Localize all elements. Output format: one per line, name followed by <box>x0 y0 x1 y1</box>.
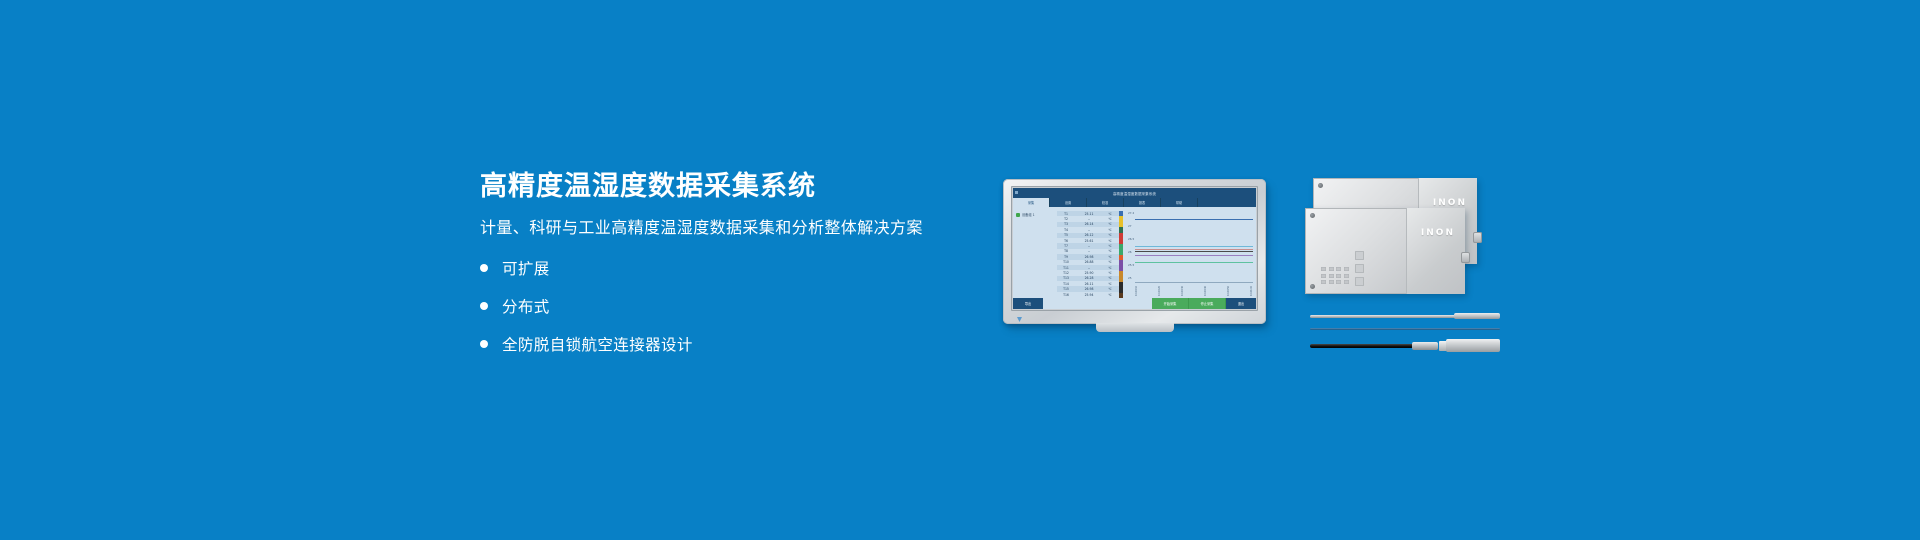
table-row[interactable]: T1426.11℃ <box>1057 281 1119 286</box>
cell-value: 26.14 <box>1075 222 1103 226</box>
cell-channel: T13 <box>1057 276 1075 280</box>
cell-channel: T9 <box>1057 255 1075 259</box>
chart-series-line <box>1135 262 1253 263</box>
screw-icon <box>1310 284 1315 289</box>
probe-aviation-connector <box>1310 339 1500 352</box>
cell-unit: ℃ <box>1103 249 1117 253</box>
probe-connector-head <box>1446 339 1500 352</box>
exit-button[interactable]: 退出 <box>1226 298 1256 309</box>
cell-unit: ℃ <box>1103 222 1117 226</box>
cell-value: 26.98 <box>1075 255 1103 259</box>
chart-y-tick: 27.2 <box>1128 211 1134 215</box>
cell-value: 26.88 <box>1075 260 1103 264</box>
cell-value: 25.94 <box>1075 293 1103 297</box>
monitor-inner-frame: 高精度温湿度数据采集系统 采集 设置 校准 报表 帮助 设备组 <box>1011 186 1258 311</box>
probe-cable <box>1310 328 1500 330</box>
export-button[interactable]: 导出 <box>1013 298 1043 309</box>
table-row[interactable]: T11--℃ <box>1057 265 1119 270</box>
chart-series-line <box>1135 246 1253 247</box>
cell-value: 26.12 <box>1075 233 1103 237</box>
cell-unit: ℃ <box>1103 239 1117 243</box>
cell-unit: ℃ <box>1103 244 1117 248</box>
cell-unit: ℃ <box>1103 276 1117 280</box>
cell-channel: T3 <box>1057 222 1075 226</box>
probe-blue-cable <box>1310 327 1500 331</box>
feature-label: 分布式 <box>502 295 550 317</box>
chart-series-line <box>1135 251 1253 252</box>
cell-channel: T8 <box>1057 249 1075 253</box>
acquisition-modules: INON INON <box>1305 178 1495 298</box>
cell-unit: ℃ <box>1103 271 1117 275</box>
module-front: INON <box>1305 208 1465 294</box>
chart-y-tick: 26 <box>1128 250 1132 254</box>
device-tree-panel: 设备组 1 <box>1013 207 1057 298</box>
tab-settings[interactable]: 设置 <box>1050 198 1087 207</box>
window-title: 高精度温湿度数据采集系统 <box>1113 191 1156 196</box>
tab-calibration[interactable]: 校准 <box>1087 198 1124 207</box>
cell-unit: ℃ <box>1103 228 1117 232</box>
tab-acquire[interactable]: 采集 <box>1013 198 1050 207</box>
cell-unit: ℃ <box>1103 266 1117 270</box>
cell-channel: T11 <box>1057 266 1075 270</box>
cell-channel: T10 <box>1057 260 1075 264</box>
screw-icon <box>1310 213 1315 218</box>
chart-y-tick: 25 <box>1128 276 1132 280</box>
table-row[interactable]: T625.61℃ <box>1057 238 1119 243</box>
chart-x-tick: 10:20:50 <box>1227 286 1230 296</box>
cell-value: -- <box>1075 228 1103 232</box>
chart-y-tick: 25.5 <box>1128 263 1134 267</box>
feature-list: 可扩展 分布式 全防脱自锁航空连接器设计 <box>480 257 950 355</box>
monitor-stand <box>1096 323 1174 332</box>
chart-series-line <box>1135 255 1253 256</box>
feature-label: 可扩展 <box>502 257 550 279</box>
table-row[interactable]: T4--℃ <box>1057 227 1119 232</box>
tab-help[interactable]: 帮助 <box>1161 198 1198 207</box>
cell-value: -- <box>1075 266 1103 270</box>
chart-plot-area <box>1135 210 1253 282</box>
cell-channel: T1 <box>1057 212 1075 216</box>
cell-value: 25.90 <box>1075 271 1103 275</box>
footer-spacer <box>1043 298 1152 309</box>
chart-x-tick: 10:20:20 <box>1158 286 1161 296</box>
probe-cable <box>1310 344 1414 348</box>
screen-body: 设备组 1 T125.11℃T2--℃T326.14℃T4--℃T526.12℃… <box>1013 207 1256 298</box>
table-row[interactable]: T326.14℃ <box>1057 222 1119 227</box>
cell-unit: ℃ <box>1103 282 1117 286</box>
probe-stainless <box>1310 313 1500 319</box>
panel-pc-monitor: 高精度温湿度数据采集系统 采集 设置 校准 报表 帮助 设备组 <box>1003 179 1266 324</box>
tab-bar: 采集 设置 校准 报表 帮助 <box>1013 198 1256 207</box>
cell-value: 25.11 <box>1075 212 1103 216</box>
table-row[interactable]: T1326.28℃ <box>1057 276 1119 281</box>
table-row[interactable]: T926.98℃ <box>1057 254 1119 259</box>
start-acquisition-button[interactable]: 开始采集 <box>1152 298 1189 309</box>
cell-value: 26.28 <box>1075 276 1103 280</box>
list-item: 全防脱自锁航空连接器设计 <box>480 333 950 355</box>
module-brand-label: INON <box>1421 228 1455 238</box>
table-row[interactable]: T8--℃ <box>1057 249 1119 254</box>
cell-channel: T4 <box>1057 228 1075 232</box>
bullet-icon <box>480 340 488 348</box>
cell-channel: T15 <box>1057 287 1075 291</box>
connector-group <box>1355 251 1364 286</box>
chart-series-line <box>1135 249 1253 250</box>
chart-y-tick: 27 <box>1128 224 1132 228</box>
device-tree-node[interactable]: 设备组 1 <box>1016 212 1054 217</box>
app-icon <box>1015 191 1018 194</box>
module-brand-label: INON <box>1433 198 1467 208</box>
bullet-icon <box>480 264 488 272</box>
cell-channel: T16 <box>1057 293 1075 297</box>
screen-footer: 导出 开始采集 停止采集 退出 <box>1013 298 1256 309</box>
cell-unit: ℃ <box>1103 260 1117 264</box>
chart-x-ticks: 10:20:1010:20:2010:20:3010:20:4010:20:50… <box>1135 286 1253 296</box>
probe-shaft <box>1310 315 1458 318</box>
chart-x-tick: 10:20:40 <box>1204 286 1207 296</box>
trend-chart: 10:20:1010:20:2010:20:3010:20:4010:20:50… <box>1123 207 1256 298</box>
sensor-probes <box>1310 313 1500 365</box>
list-item: 分布式 <box>480 295 950 317</box>
connector-port <box>1461 252 1470 263</box>
cell-value: 26.98 <box>1075 287 1103 291</box>
cell-unit: ℃ <box>1103 293 1117 297</box>
table-row[interactable]: T1026.88℃ <box>1057 260 1119 265</box>
cell-channel: T7 <box>1057 244 1075 248</box>
table-row[interactable]: T125.11℃ <box>1057 211 1119 216</box>
chart-x-axis <box>1135 282 1253 283</box>
chart-series-line <box>1135 219 1253 220</box>
feature-label: 全防脱自锁航空连接器设计 <box>502 333 693 355</box>
table-row[interactable]: T1625.94℃ <box>1057 292 1119 297</box>
module-right-face <box>1406 208 1465 294</box>
cell-channel: T14 <box>1057 282 1075 286</box>
channel-table: T125.11℃T2--℃T326.14℃T4--℃T526.12℃T625.6… <box>1057 207 1119 298</box>
cell-channel: T6 <box>1057 239 1075 243</box>
status-icon <box>1016 213 1020 217</box>
cell-value: -- <box>1075 217 1103 221</box>
chart-x-tick: 10:21:00 <box>1250 286 1253 296</box>
cell-unit: ℃ <box>1103 233 1117 237</box>
cell-value: -- <box>1075 244 1103 248</box>
table-row[interactable]: T2--℃ <box>1057 216 1119 221</box>
tab-report[interactable]: 报表 <box>1124 198 1161 207</box>
connector-port <box>1473 232 1482 243</box>
bullet-icon <box>480 302 488 310</box>
monitor-bezel: 高精度温湿度数据采集系统 采集 设置 校准 报表 帮助 设备组 <box>1003 179 1266 324</box>
cell-unit: ℃ <box>1103 217 1117 221</box>
window-title-bar: 高精度温湿度数据采集系统 <box>1013 188 1256 198</box>
page-title: 高精度温湿度数据采集系统 <box>480 172 950 202</box>
label-grid <box>1321 267 1349 284</box>
table-row[interactable]: T1225.90℃ <box>1057 270 1119 275</box>
device-node-label: 设备组 1 <box>1022 212 1035 217</box>
table-row[interactable]: T526.12℃ <box>1057 233 1119 238</box>
screw-icon <box>1318 183 1323 188</box>
stop-acquisition-button[interactable]: 停止采集 <box>1189 298 1226 309</box>
cell-value: 25.61 <box>1075 239 1103 243</box>
page-subtitle: 计量、科研与工业高精度温湿度数据采集和分析整体解决方案 <box>480 218 950 237</box>
cell-channel: T2 <box>1057 217 1075 221</box>
software-screen: 高精度温湿度数据采集系统 采集 设置 校准 报表 帮助 设备组 <box>1013 188 1256 309</box>
product-banner: 高精度温湿度数据采集系统 计量、科研与工业高精度温湿度数据采集和分析整体解决方案… <box>0 0 1920 540</box>
table-row[interactable]: T1526.98℃ <box>1057 286 1119 291</box>
cell-channel: T12 <box>1057 271 1075 275</box>
cell-channel: T5 <box>1057 233 1075 237</box>
probe-ferrule <box>1412 342 1438 350</box>
cell-value: -- <box>1075 249 1103 253</box>
list-item: 可扩展 <box>480 257 950 279</box>
cell-value: 26.11 <box>1075 282 1103 286</box>
cell-unit: ℃ <box>1103 212 1117 216</box>
brand-logo-icon <box>1017 317 1022 322</box>
chart-x-tick: 10:20:10 <box>1135 286 1138 296</box>
probe-tip <box>1454 313 1500 319</box>
cell-unit: ℃ <box>1103 287 1117 291</box>
table-row[interactable]: T7--℃ <box>1057 243 1119 248</box>
chart-y-tick: 26.5 <box>1128 237 1134 241</box>
banner-copy: 高精度温湿度数据采集系统 计量、科研与工业高精度温湿度数据采集和分析整体解决方案… <box>480 172 950 371</box>
cell-unit: ℃ <box>1103 255 1117 259</box>
chart-x-tick: 10:20:30 <box>1181 286 1184 296</box>
